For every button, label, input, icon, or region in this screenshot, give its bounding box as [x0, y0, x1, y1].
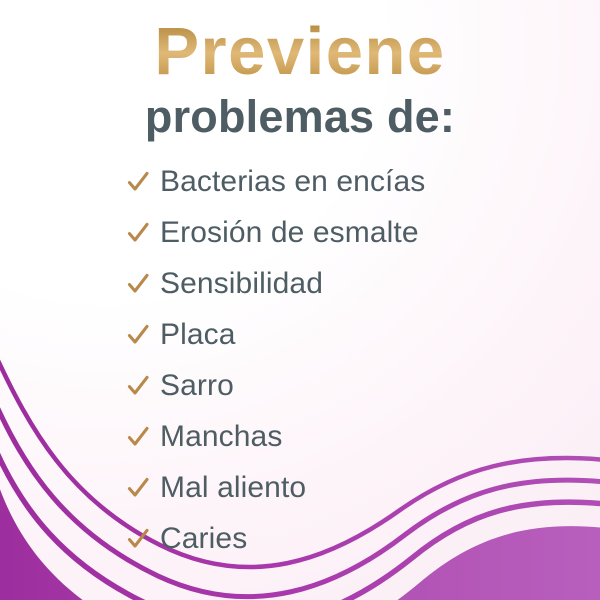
check-icon: [126, 170, 150, 194]
list-item: Sensibilidad: [126, 258, 566, 309]
list-item: Bacterias en encías: [126, 156, 566, 207]
headline-block: Previene problemas de:: [0, 18, 600, 139]
page-subtitle: problemas de:: [0, 94, 600, 139]
check-icon: [126, 425, 150, 449]
benefits-checklist: Bacterias en encías Erosión de esmalte S…: [126, 156, 566, 564]
list-item: Manchas: [126, 411, 566, 462]
check-icon: [126, 272, 150, 296]
check-icon: [126, 221, 150, 245]
list-item: Caries: [126, 513, 566, 564]
poster-canvas: Previene problemas de: Bacterias en encí…: [0, 0, 600, 600]
list-item-label: Manchas: [160, 420, 282, 454]
page-title: Previene: [0, 18, 600, 85]
list-item-label: Placa: [160, 318, 236, 352]
check-icon: [126, 527, 150, 551]
list-item-label: Mal aliento: [160, 471, 306, 505]
check-icon: [126, 374, 150, 398]
list-item: Erosión de esmalte: [126, 207, 566, 258]
check-icon: [126, 476, 150, 500]
list-item-label: Bacterias en encías: [160, 165, 425, 199]
check-icon: [126, 323, 150, 347]
list-item-label: Sensibilidad: [160, 267, 323, 301]
list-item: Sarro: [126, 360, 566, 411]
list-item-label: Caries: [160, 522, 247, 556]
list-item: Placa: [126, 309, 566, 360]
list-item-label: Sarro: [160, 369, 234, 403]
list-item-label: Erosión de esmalte: [160, 216, 419, 250]
list-item: Mal aliento: [126, 462, 566, 513]
